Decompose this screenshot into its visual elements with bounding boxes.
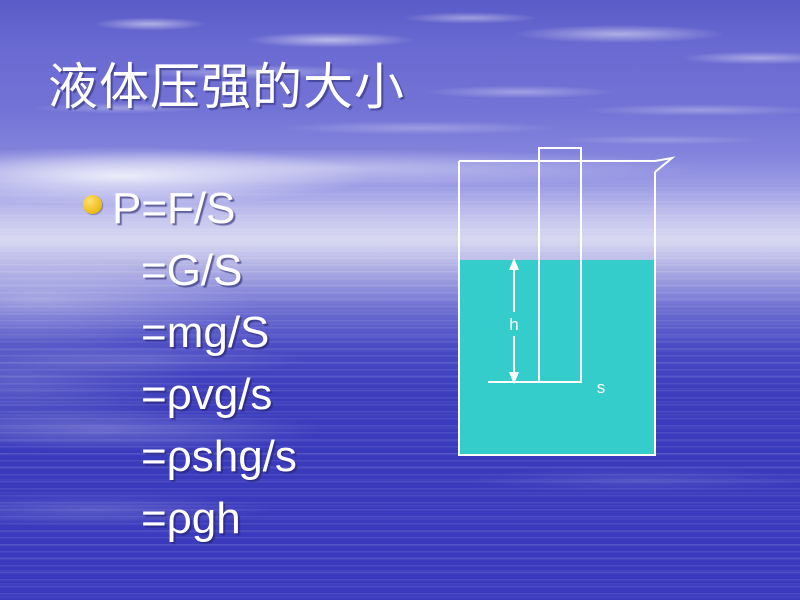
beaker-diagram: h s bbox=[440, 130, 700, 480]
list-item: =ρgh bbox=[80, 488, 440, 550]
list-item: =G/S bbox=[80, 240, 440, 302]
slide-title: 液体压强的大小 bbox=[48, 58, 405, 116]
formula-text: =ρgh bbox=[141, 488, 241, 550]
liquid-fill bbox=[459, 260, 655, 455]
formula-text: =mg/S bbox=[141, 302, 269, 364]
depth-label: h bbox=[509, 315, 518, 334]
list-item: =ρvg/s bbox=[80, 364, 440, 426]
list-item: P=F/S bbox=[80, 178, 440, 240]
list-item: =ρshg/s bbox=[80, 426, 440, 488]
slide: 液体压强的大小 P=F/S =G/S =mg/S =ρvg/s =ρshg/s … bbox=[0, 0, 800, 600]
formula-text: =ρshg/s bbox=[141, 426, 297, 488]
formula-text: =G/S bbox=[141, 240, 243, 302]
beaker-spout bbox=[459, 158, 672, 172]
bullet-point-icon bbox=[83, 195, 102, 214]
list-item: =mg/S bbox=[80, 302, 440, 364]
formula-text: P=F/S bbox=[112, 178, 236, 240]
area-label: s bbox=[597, 378, 606, 397]
formula-list: P=F/S =G/S =mg/S =ρvg/s =ρshg/s =ρgh bbox=[80, 178, 440, 550]
formula-text: =ρvg/s bbox=[141, 364, 272, 426]
